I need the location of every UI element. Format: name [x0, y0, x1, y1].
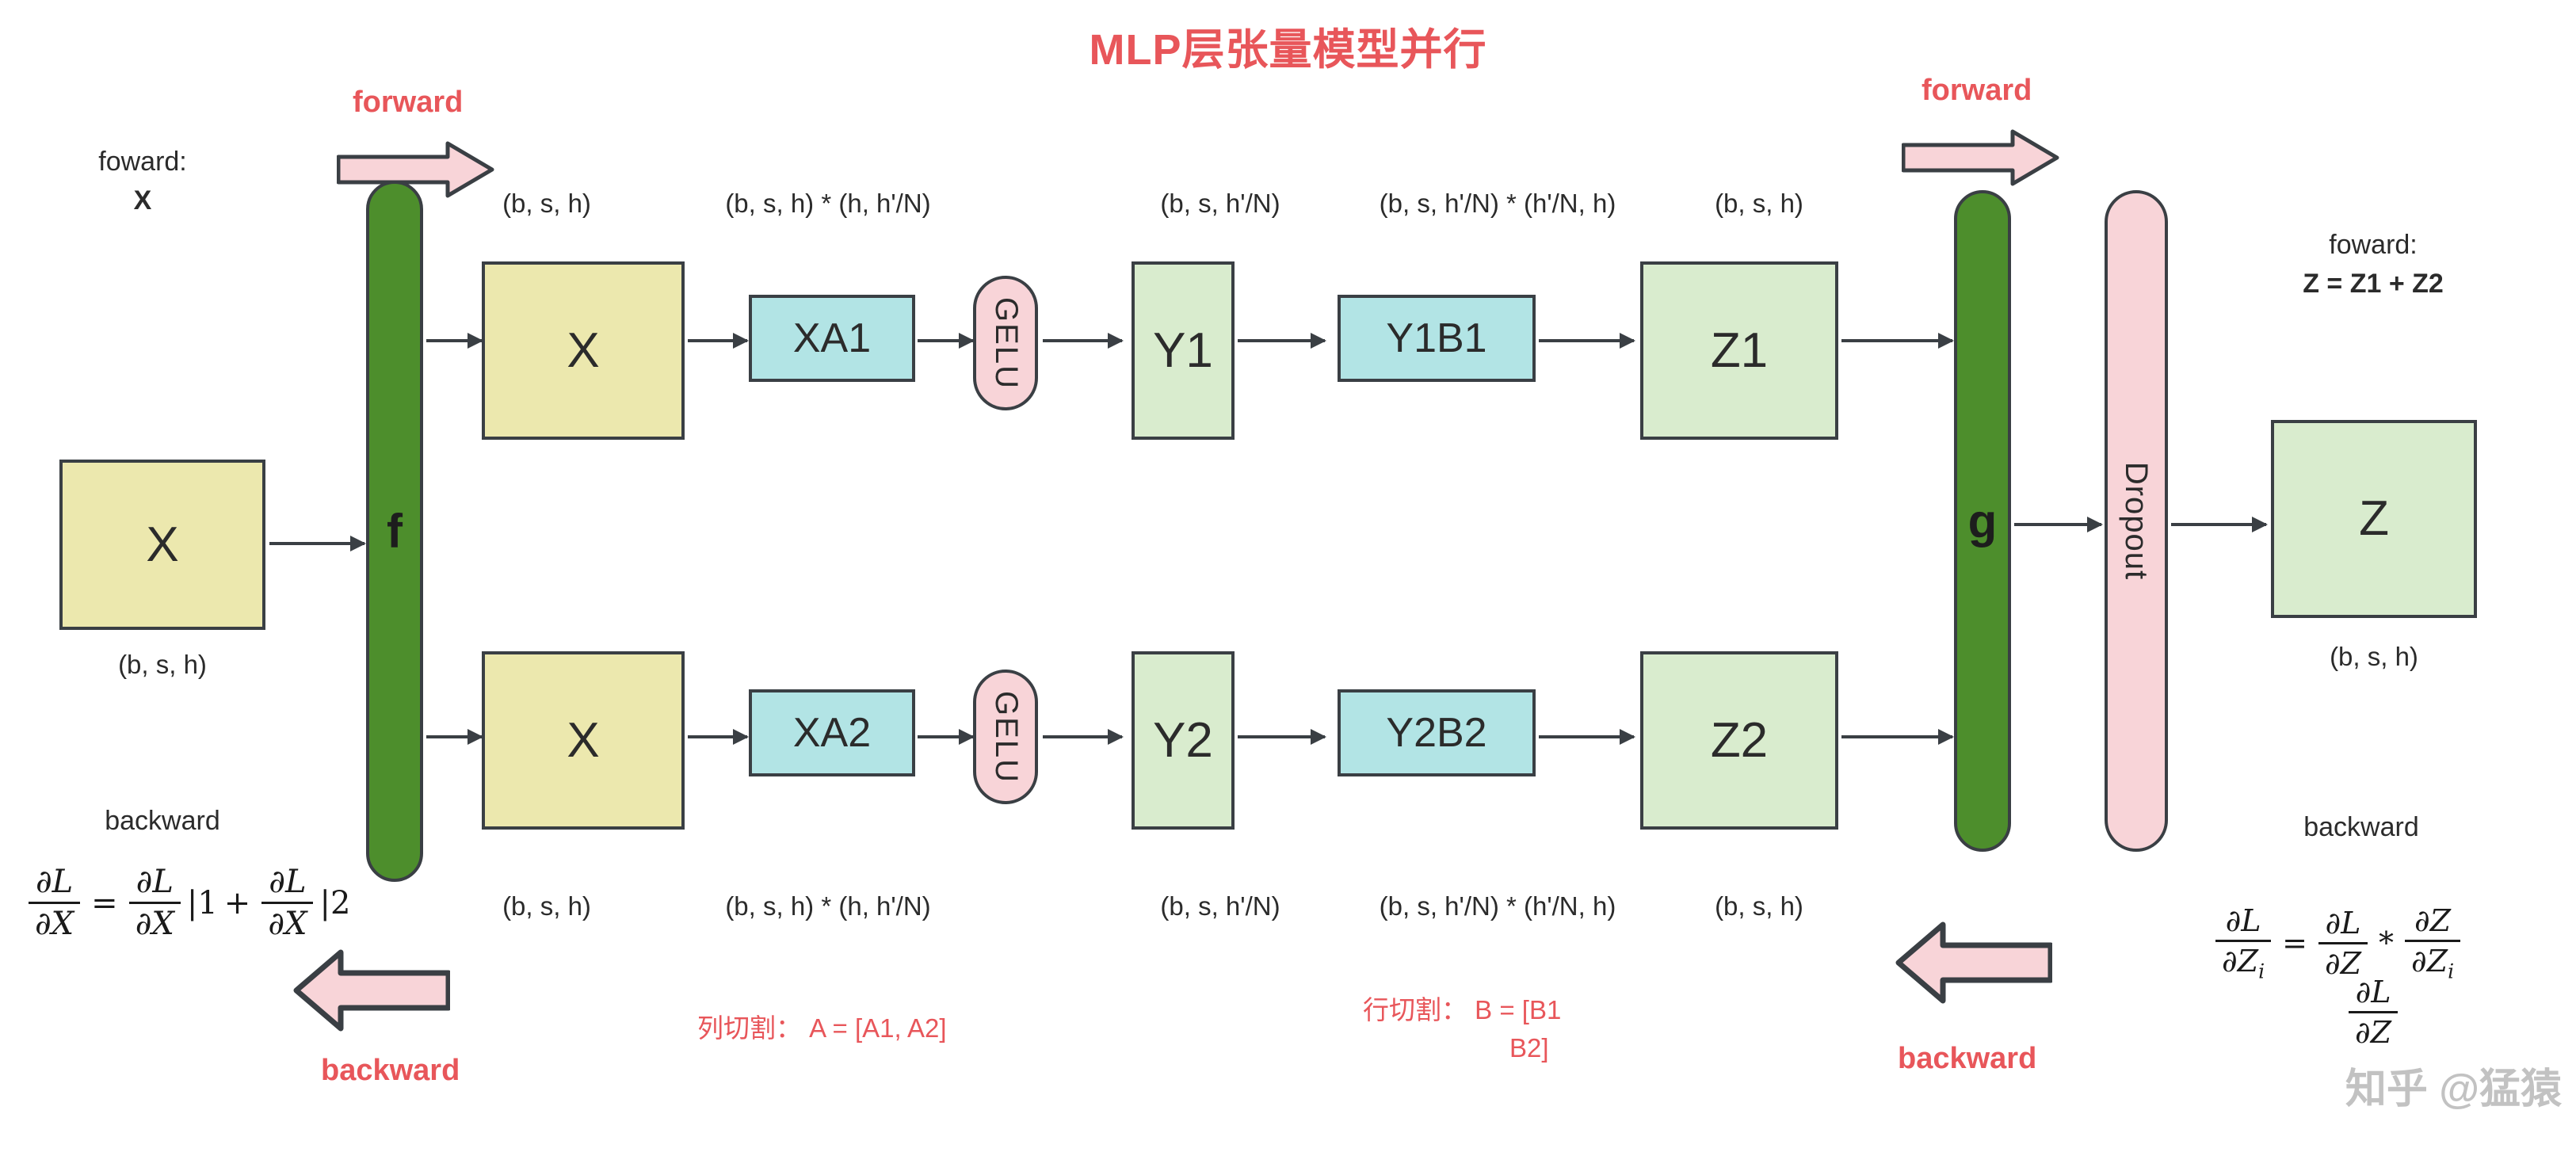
frac-dL-dX-2: ∂L ∂X: [261, 864, 313, 942]
input-x-box: X: [59, 460, 265, 630]
f-gate-label: f: [387, 504, 403, 559]
connector-f-to-branch2-x: [426, 735, 482, 738]
times-sign-r: *: [2379, 925, 2394, 960]
left-backward-note: backward: [44, 802, 281, 841]
top-dim-1: (b, s, h): [440, 189, 654, 219]
backward-block-arrow-right: [1894, 915, 2052, 1010]
backward-label-left: backward: [321, 1054, 460, 1088]
backward-block-arrow-left: [292, 943, 450, 1038]
partial-L-num: ∂L: [29, 864, 79, 902]
connector-branch1-z1-to-g: [1841, 339, 1952, 342]
partial-L-num-r2: ∂L: [2319, 906, 2368, 942]
connector-f-to-branch1-x: [426, 339, 482, 342]
connector-branch1-xa1-to-gelu: [918, 339, 973, 342]
partial-Zi-den-r: ∂Zi: [2215, 940, 2271, 983]
partial-L-num-2: ∂L: [262, 864, 312, 902]
partial-X-den: ∂X: [29, 902, 80, 942]
right-backward-note: backward: [2242, 808, 2480, 847]
connector-branch2-z2-to-g: [1841, 735, 1952, 738]
dropout-label: Dropout: [2119, 462, 2154, 580]
connector-branch1-y1-to-y1b1: [1238, 339, 1325, 342]
branch2-gelu-label: GELU: [988, 691, 1024, 784]
branch1-y1-box: Y1: [1132, 261, 1235, 440]
branch1-gelu-label: GELU: [988, 297, 1024, 390]
partial-L-num-r: ∂L: [2219, 903, 2268, 940]
frac-dL-dZi-lhs: ∂L ∂Zi: [2215, 903, 2271, 983]
frac-dL-dX-lhs: ∂L ∂X: [29, 864, 80, 942]
forward-label-left: forward: [353, 86, 463, 120]
left-forward-note: foward: X: [55, 143, 230, 221]
watermark: 知乎 @猛猿: [2345, 1055, 2562, 1115]
branch1-gelu-pill: GELU: [973, 276, 1038, 410]
top-dim-4: (b, s, h'/N) * (h'/N, h): [1299, 189, 1696, 219]
connector-branch2-y2b2-to-z2: [1539, 735, 1634, 738]
partial-Z-den-l2: ∂Z: [2349, 1011, 2398, 1050]
right-backward-formula: ∂L ∂Zi = ∂L ∂Z * ∂Z ∂Zi: [2211, 903, 2465, 983]
branch1-y1b1-box: Y1B1: [1338, 295, 1536, 382]
backward-label-right: backward: [1898, 1042, 2036, 1076]
input-x-dim: (b, s, h): [59, 650, 265, 680]
plus-sign: +: [224, 885, 251, 921]
branch1-xa1-box: XA1: [749, 295, 915, 382]
branch1-z1-box: Z1: [1640, 261, 1838, 440]
partial-X-den-2: ∂X: [261, 902, 313, 942]
partial-L-num-l2: ∂L: [2349, 975, 2398, 1011]
connector-dropout-to-z: [2171, 523, 2266, 526]
frac-dL-dX-1: ∂L ∂X: [129, 864, 181, 942]
partial-L-num-1: ∂L: [130, 864, 180, 902]
bottom-dim-4: (b, s, h'/N) * (h'/N, h): [1299, 891, 1696, 921]
connector-branch1-x-to-xa1: [688, 339, 747, 342]
frac-dL-dZ: ∂L ∂Z: [2318, 906, 2368, 981]
connector-branch2-xa2-to-gelu: [918, 735, 973, 738]
connector-branch2-x-to-xa2: [688, 735, 747, 738]
connector-branch2-gelu-to-y2: [1043, 735, 1122, 738]
output-z-box: Z: [2271, 420, 2477, 618]
pipe-2: |2: [319, 885, 350, 921]
right-backward-formula-math: ∂L ∂Zi = ∂L ∂Z * ∂Z ∂Zi: [2211, 903, 2465, 983]
page-title: MLP层张量模型并行: [0, 14, 2576, 77]
bottom-dim-2: (b, s, h) * (h, h'/N): [658, 891, 998, 921]
partial-Z-num-r3: ∂Z: [2408, 903, 2457, 940]
left-forward-note-line2: X: [55, 181, 230, 220]
left-forward-note-line1: foward:: [55, 143, 230, 181]
right-backward-formula-line2-math: ∂L ∂Z: [2344, 975, 2402, 1050]
connector-branch1-y1b1-to-z1: [1539, 339, 1634, 342]
g-gate-label: g: [1968, 494, 1998, 548]
forward-label-right: forward: [1922, 74, 2032, 108]
top-dim-2: (b, s, h) * (h, h'/N): [658, 189, 998, 219]
partial-X-den-1: ∂X: [129, 902, 181, 942]
equals-sign: =: [91, 885, 118, 921]
left-backward-formula-math: ∂L ∂X = ∂L ∂X |1 + ∂L ∂X |2: [24, 864, 350, 942]
right-forward-note-line2: Z = Z1 + Z2: [2242, 265, 2504, 303]
connector-branch2-y2-to-y2b2: [1238, 735, 1325, 738]
equals-sign-r: =: [2282, 925, 2307, 960]
branch2-y2b2-box: Y2B2: [1338, 689, 1536, 776]
dropout-bar: Dropout: [2105, 190, 2168, 852]
output-z-dim: (b, s, h): [2271, 642, 2477, 672]
forward-block-arrow-right: [1902, 129, 2060, 186]
row-split-note-line1: 行切割： B = [B1: [1363, 992, 1561, 1028]
connector-g-to-dropout: [2014, 523, 2101, 526]
f-gate-bar: f: [366, 181, 423, 882]
frac-dZ-dZi: ∂Z ∂Zi: [2405, 903, 2460, 983]
column-split-note: 列切割： A = [A1, A2]: [697, 1010, 947, 1047]
left-backward-formula: ∂L ∂X = ∂L ∂X |1 + ∂L ∂X |2: [24, 864, 350, 942]
g-gate-bar: g: [1954, 190, 2011, 852]
diagram-canvas: MLP层张量模型并行 foward: X forward forward X (…: [0, 0, 2576, 1156]
branch2-xa2-box: XA2: [749, 689, 915, 776]
partial-Zi-den-r3: ∂Zi: [2405, 940, 2460, 983]
row-split-note-line2: B2]: [1509, 1030, 1549, 1066]
right-backward-formula-line2: ∂L ∂Z: [2344, 975, 2402, 1050]
connector-x-to-f: [269, 542, 364, 545]
branch2-z2-box: Z2: [1640, 651, 1838, 830]
right-forward-note-line1: foward:: [2242, 226, 2504, 265]
pipe-1: |1: [187, 885, 218, 921]
branch2-gelu-pill: GELU: [973, 670, 1038, 804]
branch2-x-box: X: [482, 651, 685, 830]
branch2-y2-box: Y2: [1132, 651, 1235, 830]
connector-branch1-gelu-to-y1: [1043, 339, 1122, 342]
top-dim-5: (b, s, h): [1648, 189, 1870, 219]
bottom-dim-5: (b, s, h): [1648, 891, 1870, 921]
right-forward-note: foward: Z = Z1 + Z2: [2242, 226, 2504, 304]
branch1-x-box: X: [482, 261, 685, 440]
frac-dL-dZ-line2: ∂L ∂Z: [2349, 975, 2398, 1050]
bottom-dim-1: (b, s, h): [440, 891, 654, 921]
